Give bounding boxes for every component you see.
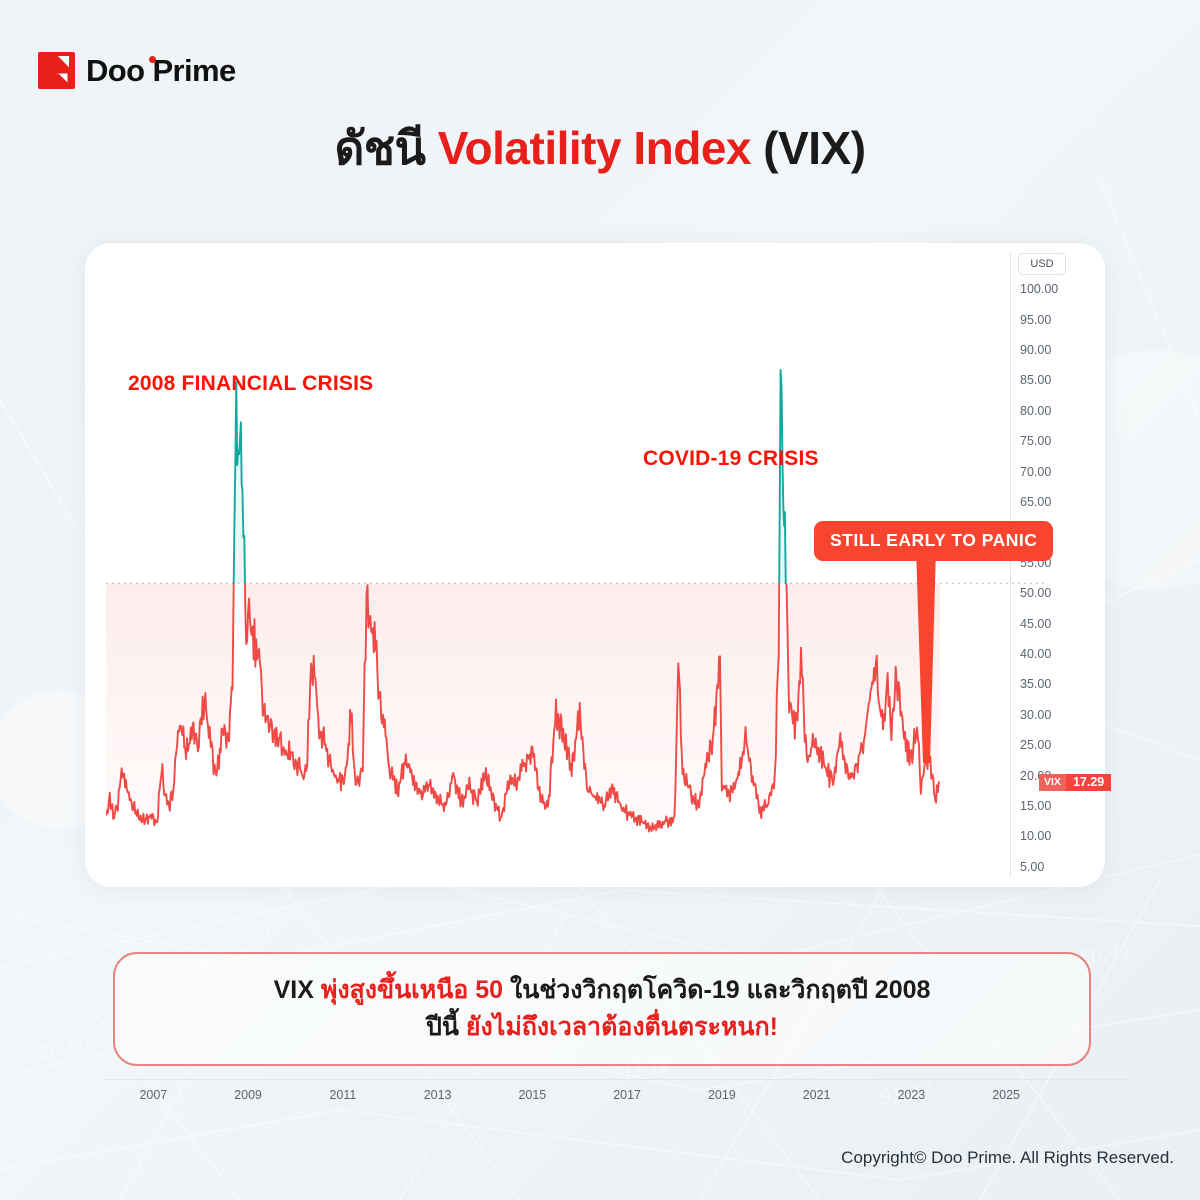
y-axis-tick: 5.00: [1020, 860, 1044, 874]
x-axis-tick: 2019: [708, 1088, 736, 1102]
vix-price-badge-label: VIX: [1039, 774, 1066, 791]
x-axis-tick: 2017: [613, 1088, 641, 1102]
doo-prime-square-logo-icon: [38, 52, 75, 89]
y-axis-tick: 90.00: [1020, 343, 1051, 357]
title-prefix: ดัชนี: [334, 122, 425, 174]
vix-price-badge: VIX 17.29: [1039, 774, 1111, 791]
x-axis-tick: 2007: [139, 1088, 167, 1102]
x-axis-tick: 2013: [424, 1088, 452, 1102]
callout-arrow-icon: [810, 548, 990, 778]
brand-name: Doo Prime: [86, 53, 236, 88]
x-axis-tick: 2009: [234, 1088, 262, 1102]
caption-line-2: ปีนี้ ยังไม่ถึงเวลาต้องตื่นตระหนก!: [426, 1009, 778, 1047]
y-axis-tick: 75.00: [1020, 434, 1051, 448]
y-axis-tick: 80.00: [1020, 404, 1051, 418]
y-axis-tick: 30.00: [1020, 708, 1051, 722]
y-axis-tick: 45.00: [1020, 617, 1051, 631]
caption-line2-highlight: ยังไม่ถึงเวลาต้องตื่นตระหนก!: [466, 1013, 778, 1041]
copyright-text: Copyright© Doo Prime. All Rights Reserve…: [841, 1148, 1174, 1168]
annotation-2008-financial-crisis: 2008 FINANCIAL CRISIS: [128, 372, 373, 396]
y-axis-tick: 95.00: [1020, 313, 1051, 327]
y-axis-tick: 25.00: [1020, 738, 1051, 752]
y-axis-tick: 10.00: [1020, 829, 1051, 843]
vix-price-badge-value: 17.29: [1066, 774, 1111, 791]
caption-line-1: VIX พุ่งสูงขึ้นเหนือ 50 ในช่วงวิกฤตโควิด…: [274, 972, 931, 1010]
currency-badge: USD: [1018, 253, 1066, 275]
title-suffix: (VIX): [763, 122, 865, 174]
annotation-covid-19-crisis: COVID-19 CRISIS: [643, 447, 819, 471]
x-axis-tick: 2011: [329, 1088, 356, 1102]
caption-line1-part-c: ในช่วงวิกฤตโควิด-19 และวิกฤตปี 2008: [503, 976, 930, 1004]
x-axis-tick: 2025: [992, 1088, 1020, 1102]
y-axis-tick: 40.00: [1020, 647, 1051, 661]
y-axis-tick: 50.00: [1020, 586, 1051, 600]
caption-line1-highlight: พุ่งสูงขึ้นเหนือ 50: [321, 976, 503, 1004]
x-axis-tick: 2021: [803, 1088, 831, 1102]
x-axis-tick: 2015: [518, 1088, 546, 1102]
callout-still-early-to-panic: STILL EARLY TO PANIC: [814, 521, 1053, 561]
caption-line1-part-a: VIX: [274, 976, 321, 1004]
x-axis: 2007200920112013201520172019202120232025: [106, 1079, 1128, 1081]
brand-logo: Doo Prime: [38, 52, 236, 89]
x-axis-tick: 2023: [897, 1088, 925, 1102]
page-title: ดัชนี Volatility Index (VIX): [0, 122, 1200, 175]
y-axis-tick: 65.00: [1020, 495, 1051, 509]
y-axis-tick: 70.00: [1020, 465, 1051, 479]
logo-i-dot: [149, 56, 156, 63]
y-axis-tick: 100.00: [1020, 282, 1058, 296]
y-axis-tick: 85.00: [1020, 373, 1051, 387]
y-axis-tick: 35.00: [1020, 677, 1051, 691]
title-highlight: Volatility Index: [438, 122, 751, 174]
caption-box: VIX พุ่งสูงขึ้นเหนือ 50 ในช่วงวิกฤตโควิด…: [113, 952, 1091, 1066]
y-axis-tick: 15.00: [1020, 799, 1051, 813]
caption-line2-part-a: ปีนี้: [426, 1013, 466, 1041]
